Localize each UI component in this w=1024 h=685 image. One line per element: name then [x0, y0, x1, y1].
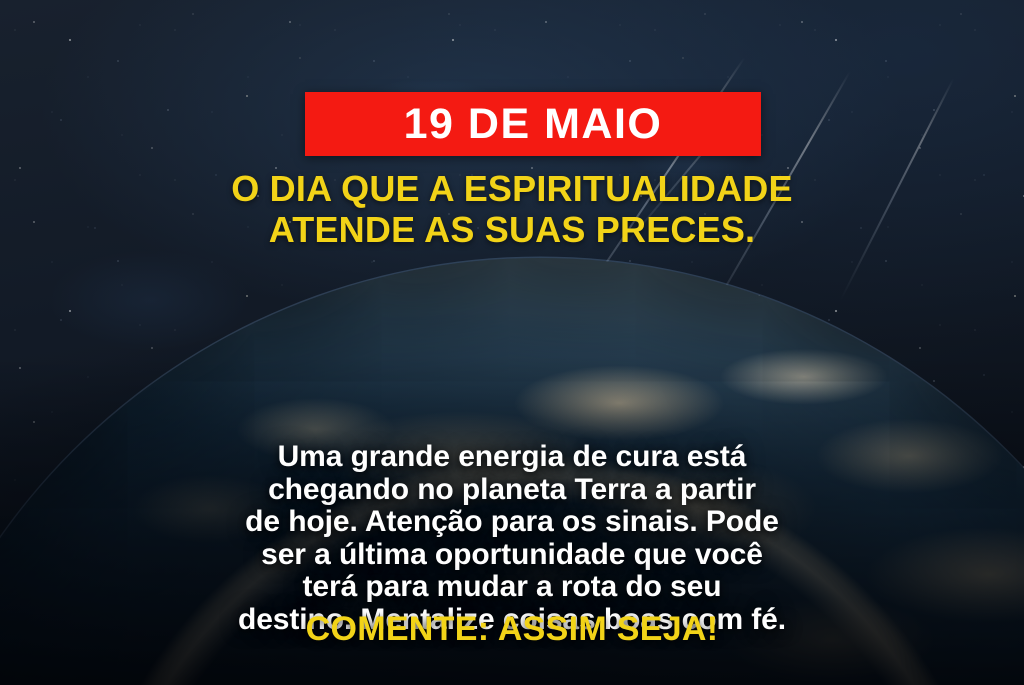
body-paragraph: Uma grande energia de cura está chegando…	[0, 441, 1024, 636]
poster-content: 19 DE MAIO O DIA QUE A ESPIRITUALIDADE A…	[0, 0, 1024, 685]
call-to-action-label: COMENTE: ASSIM SEJA!	[0, 612, 1024, 646]
poster-canvas: 19 DE MAIO O DIA QUE A ESPIRITUALIDADE A…	[0, 0, 1024, 685]
body-line-3: de hoje. Atenção para os sinais. Pode	[0, 506, 1024, 539]
body-line-4: ser a última oportunidade que você	[0, 539, 1024, 572]
headline: O DIA QUE A ESPIRITUALIDADE ATENDE AS SU…	[0, 168, 1024, 250]
body-line-2: chegando no planeta Terra a partir	[0, 474, 1024, 507]
body-line-5: terá para mudar a rota do seu	[0, 571, 1024, 604]
body-line-1: Uma grande energia de cura está	[0, 441, 1024, 474]
date-banner-label: 19 DE MAIO	[404, 103, 663, 146]
date-banner: 19 DE MAIO	[305, 92, 761, 156]
headline-line-2: ATENDE AS SUAS PRECES.	[0, 209, 1024, 250]
headline-line-1: O DIA QUE A ESPIRITUALIDADE	[0, 168, 1024, 209]
